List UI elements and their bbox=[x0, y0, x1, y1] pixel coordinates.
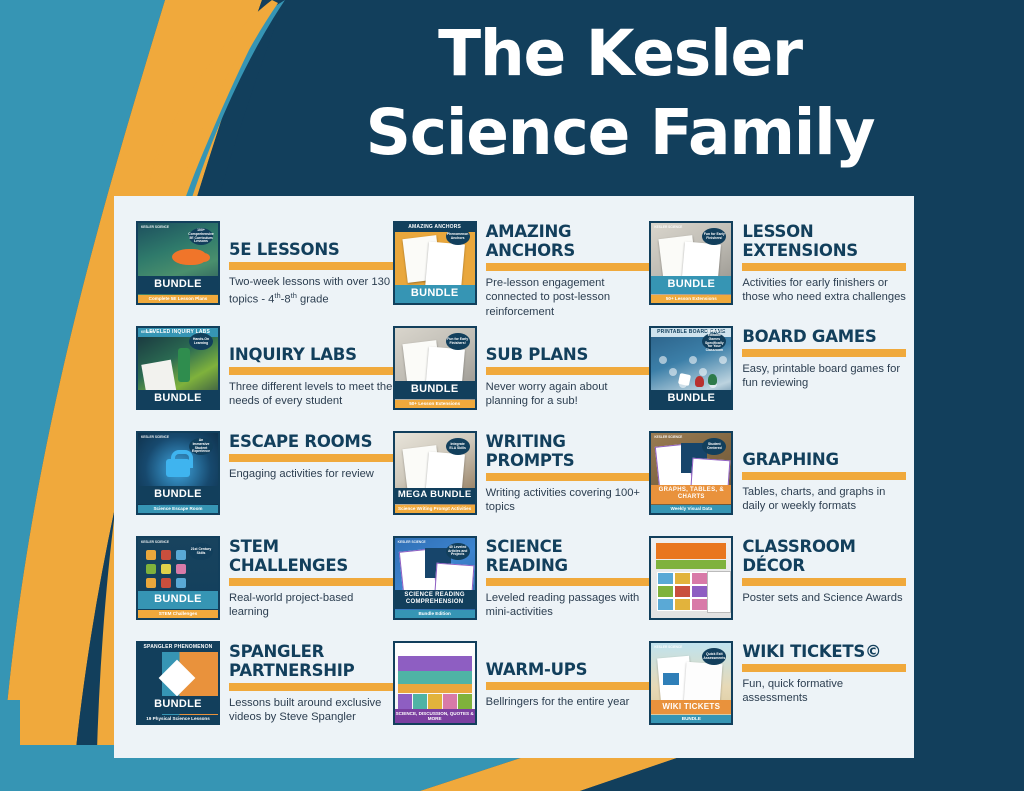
thumbnail-art-shape bbox=[161, 550, 171, 560]
bottom-teal-strip bbox=[0, 700, 20, 791]
thumbnail-bundle-label: BUNDLE bbox=[138, 591, 218, 609]
title-underline-bar bbox=[486, 682, 650, 690]
product-title: BOARD GAMES bbox=[742, 327, 906, 346]
thumbnail-bundle-label: BUNDLE bbox=[651, 276, 731, 294]
product-card[interactable]: PRINTABLE BOARD GAMEIncludes 10 Editable… bbox=[649, 319, 906, 424]
thumbnail-sub-label: SCIENCE, DISCUSSION, QUOTES & MORE bbox=[395, 709, 475, 723]
product-card[interactable]: Fun for Early Finishers!BUNDLE50+ Lesson… bbox=[393, 319, 650, 424]
product-description: Engaging activities for review bbox=[229, 467, 393, 481]
product-card-text: SCIENCE READINGLeveled reading passages … bbox=[486, 536, 650, 620]
thumbnail-sub-label: 19 Physical Science Lessons bbox=[138, 715, 218, 723]
product-title: WIKI TICKETS© bbox=[742, 642, 906, 661]
product-card[interactable]: KESLERLeveled Inquiry LabsHands-On Learn… bbox=[136, 319, 393, 424]
title-underline-bar bbox=[742, 578, 906, 586]
thumbnail-bundle-label: BUNDLE bbox=[138, 276, 218, 294]
product-card-text: WIKI TICKETS©Fun, quick formative assess… bbox=[742, 641, 906, 706]
thumbnail-badge: Phenomenon Anchors bbox=[446, 228, 470, 245]
thumbnail-art-shape bbox=[176, 578, 186, 588]
product-title: SUB PLANS bbox=[486, 345, 650, 364]
title-underline-bar bbox=[742, 263, 906, 271]
product-description: Fun, quick formative assessments bbox=[742, 677, 906, 706]
thumbnail-art-shape bbox=[707, 571, 731, 613]
product-title: GRAPHING bbox=[742, 450, 906, 469]
product-card[interactable]: CLASSROOM DÉCORPoster sets and Science A… bbox=[649, 529, 906, 634]
poster-canvas: The Kesler Science Family KESLER SCIENCE… bbox=[0, 0, 1024, 791]
thumbnail-art-shape bbox=[398, 671, 472, 684]
thumbnail-art-shape bbox=[176, 564, 186, 574]
title-underline-bar bbox=[486, 367, 650, 375]
thumbnail-art-shape bbox=[674, 572, 691, 585]
product-title: 5E LESSONS bbox=[229, 240, 393, 259]
kesler-logo-icon: KESLER SCIENCE bbox=[141, 436, 169, 439]
title-line-1: The Kesler bbox=[300, 14, 940, 93]
thumbnail-art-shape bbox=[695, 376, 704, 387]
product-title: AMAZING ANCHORS bbox=[486, 222, 650, 260]
product-title: WARM-UPS bbox=[486, 660, 650, 679]
product-thumbnail[interactable]: PRINTABLE BOARD GAMEIncludes 10 Editable… bbox=[649, 326, 733, 410]
title-underline-bar bbox=[229, 578, 393, 586]
product-card-text: ESCAPE ROOMSEngaging activities for revi… bbox=[229, 431, 393, 481]
thumbnail-art-shape bbox=[663, 673, 679, 685]
thumbnail-bundle-label: GRAPHS, TABLES, & CHARTS bbox=[651, 485, 731, 504]
thumbnail-art-shape bbox=[719, 356, 727, 364]
product-card[interactable]: KESLER SCIENCE100+ Comprehensive 5E Curr… bbox=[136, 214, 393, 319]
thumbnail-artwork bbox=[651, 538, 731, 618]
product-card-text: INQUIRY LABSThree different levels to me… bbox=[229, 326, 393, 409]
product-thumbnail[interactable]: KESLER SCIENCE40 Leveled Articles and Pr… bbox=[393, 536, 477, 620]
product-thumbnail[interactable]: SPANGLER PHENOMENONBUNDLE19 Physical Sci… bbox=[136, 641, 220, 725]
title-underline-bar bbox=[742, 664, 906, 672]
product-card[interactable]: Integrate ELA SkillsMEGA BUNDLEScience W… bbox=[393, 424, 650, 529]
product-card-text: AMAZING ANCHORSPre-lesson engagement con… bbox=[486, 221, 650, 319]
thumbnail-sub-label: 50+ Lesson Extensions bbox=[395, 400, 475, 408]
product-card-text: WRITING PROMPTSWriting activities coveri… bbox=[486, 431, 650, 515]
product-description: Leveled reading passages with mini-activ… bbox=[486, 591, 650, 620]
product-card[interactable]: KESLER SCIENCEAn Immersive Student Exper… bbox=[136, 424, 393, 529]
content-panel: KESLER SCIENCE100+ Comprehensive 5E Curr… bbox=[114, 196, 914, 758]
thumbnail-art-shape bbox=[691, 572, 708, 585]
product-title: LESSON EXTENSIONS bbox=[742, 222, 906, 260]
product-card[interactable]: KESLER SCIENCE40 Leveled Articles and Pr… bbox=[393, 529, 650, 634]
thumbnail-badge: Hands-On Learning bbox=[189, 333, 213, 350]
thumbnail-badge: Integrate ELA Skills bbox=[446, 438, 470, 455]
product-card-text: SUB PLANSNever worry again about plannin… bbox=[486, 326, 650, 409]
product-description: Two-week lessons with over 130 topics - … bbox=[229, 275, 393, 308]
kesler-logo-icon: KESLER SCIENCE bbox=[654, 646, 682, 649]
thumbnail-art-shape bbox=[161, 564, 171, 574]
thumbnail-art-shape bbox=[398, 684, 472, 693]
product-card-text: STEM CHALLENGESReal-world project-based … bbox=[229, 536, 393, 620]
product-card[interactable]: SCIENCE, DISCUSSION, QUOTES & MOREWARM-U… bbox=[393, 634, 650, 739]
product-description: Poster sets and Science Awards bbox=[742, 591, 906, 605]
product-card-text: CLASSROOM DÉCORPoster sets and Science A… bbox=[742, 536, 906, 605]
product-title: WRITING PROMPTS bbox=[486, 432, 650, 470]
thumbnail-art-shape bbox=[178, 348, 190, 382]
product-description: Easy, printable board games for fun revi… bbox=[742, 362, 906, 391]
thumbnail-bundle-label: BUNDLE bbox=[138, 696, 218, 714]
product-card[interactable]: Amazing AnchorsPhenomenon AnchorsBUNDLEA… bbox=[393, 214, 650, 319]
thumbnail-badge: 40 Leveled Articles and Projects bbox=[446, 543, 470, 560]
thumbnail-sub-label: STEM Challenges bbox=[138, 610, 218, 618]
title-underline-bar bbox=[229, 367, 393, 375]
thumbnail-art-shape bbox=[708, 374, 717, 385]
thumbnail-bundle-label: BUNDLE bbox=[395, 381, 475, 399]
thumbnail-sub-label: BUNDLE bbox=[651, 715, 731, 723]
title-line-2: Science Family bbox=[300, 93, 940, 172]
product-card-text: WARM-UPSBellringers for the entire year bbox=[486, 641, 650, 709]
product-description: Real-world project-based learning bbox=[229, 591, 393, 620]
product-thumbnail[interactable]: KESLER SCIENCEFun for Early Finishers!BU… bbox=[649, 221, 733, 305]
product-title: SPANGLER PARTNERSHIP bbox=[229, 642, 393, 680]
thumbnail-art-shape bbox=[161, 578, 171, 588]
thumbnail-art-shape bbox=[674, 598, 691, 611]
title-underline-bar bbox=[229, 262, 393, 270]
product-title: STEM CHALLENGES bbox=[229, 537, 393, 575]
product-card[interactable]: SPANGLER PHENOMENONBUNDLE19 Physical Sci… bbox=[136, 634, 393, 739]
thumbnail-sub-label: Science Escape Room bbox=[138, 505, 218, 513]
product-title: CLASSROOM DÉCOR bbox=[742, 537, 906, 575]
product-card-text: 5E LESSONSTwo-week lessons with over 130… bbox=[229, 221, 393, 308]
thumbnail-art-shape bbox=[657, 572, 674, 585]
product-thumbnail[interactable]: KESLER SCIENCEStudent CenteredGRAPHS, TA… bbox=[649, 431, 733, 515]
title-underline-bar bbox=[229, 454, 393, 462]
product-description: Writing activities covering 100+ topics bbox=[486, 486, 650, 515]
thumbnail-bundle-label: BUNDLE bbox=[138, 390, 218, 408]
thumbnail-art-shape bbox=[691, 585, 708, 598]
thumbnail-art-shape bbox=[659, 356, 667, 364]
thumbnail-badge: 100+ Comprehensive 5E Curriculum Lessons bbox=[189, 228, 213, 245]
kesler-logo-icon: KESLER SCIENCE bbox=[654, 226, 682, 229]
thumbnail-bundle-label: MEGA BUNDLE bbox=[395, 488, 475, 504]
thumbnail-sub-label: Science Writing Prompt Activities bbox=[395, 505, 475, 513]
title-underline-bar bbox=[486, 473, 650, 481]
product-description: Bellringers for the entire year bbox=[486, 695, 650, 709]
thumbnail-art-shape bbox=[146, 550, 156, 560]
product-card-text: SPANGLER PARTNERSHIPLessons built around… bbox=[229, 641, 393, 725]
thumbnail-bundle-label: SCIENCE READING COMPREHENSION bbox=[395, 590, 475, 609]
title-underline-bar bbox=[486, 578, 650, 586]
thumbnail-sub-label: Complete 5E Lesson Plans bbox=[138, 295, 218, 303]
product-thumbnail[interactable]: KESLER SCIENCEAn Immersive Student Exper… bbox=[136, 431, 220, 515]
product-title: SCIENCE READING bbox=[486, 537, 650, 575]
product-card-text: GRAPHINGTables, charts, and graphs in da… bbox=[742, 431, 906, 514]
thumbnail-bundle-label: WIKI TICKETS bbox=[651, 700, 731, 714]
thumbnail-art-shape bbox=[146, 578, 156, 588]
product-description: Never worry again about planning for a s… bbox=[486, 380, 650, 409]
thumbnail-sub-label: Weekly Visual Data bbox=[651, 505, 731, 513]
product-description: Pre-lesson engagement connected to post-… bbox=[486, 276, 650, 319]
product-title: INQUIRY LABS bbox=[229, 345, 393, 364]
product-description: Tables, charts, and graphs in daily or w… bbox=[742, 485, 906, 514]
product-grid: KESLER SCIENCE100+ Comprehensive 5E Curr… bbox=[136, 214, 906, 739]
thumbnail-art-shape bbox=[656, 560, 726, 569]
product-card-text: BOARD GAMESEasy, printable board games f… bbox=[742, 326, 906, 391]
thumbnail-bundle-label: BUNDLE bbox=[138, 486, 218, 504]
product-thumbnail[interactable]: KESLER SCIENCE100+ Comprehensive 5E Curr… bbox=[136, 221, 220, 305]
poster-title: The Kesler Science Family bbox=[300, 14, 940, 172]
product-thumbnail[interactable]: KESLERLeveled Inquiry LabsHands-On Learn… bbox=[136, 326, 220, 410]
product-card[interactable]: KESLER SCIENCEQuick Exit AssessmentsWIKI… bbox=[649, 634, 906, 739]
product-title: ESCAPE ROOMS bbox=[229, 432, 393, 451]
thumbnail-art-shape bbox=[198, 253, 210, 262]
thumbnail-bundle-label: BUNDLE bbox=[651, 390, 731, 408]
thumbnail-badge: An Immersive Student Experience bbox=[189, 438, 213, 455]
product-thumbnail[interactable]: SCIENCE, DISCUSSION, QUOTES & MORE bbox=[393, 641, 477, 725]
thumbnail-art-shape bbox=[146, 564, 156, 574]
thumbnail-badge: 21st Century Skills bbox=[189, 543, 213, 560]
product-description: Lessons built around exclusive videos by… bbox=[229, 696, 393, 725]
product-thumbnail[interactable] bbox=[649, 536, 733, 620]
kesler-logo-icon: KESLER SCIENCE bbox=[398, 541, 426, 544]
thumbnail-badge: Fun for Early Finishers! bbox=[446, 333, 470, 350]
kesler-logo-icon: KESLER SCIENCE bbox=[141, 226, 169, 229]
product-thumbnail[interactable]: KESLER SCIENCE21st Century SkillsBUNDLES… bbox=[136, 536, 220, 620]
product-card[interactable]: KESLER SCIENCEStudent CenteredGRAPHS, TA… bbox=[649, 424, 906, 529]
thumbnail-art-shape bbox=[657, 585, 674, 598]
thumbnail-badge: Includes 10 Editable Games Specifically … bbox=[702, 333, 726, 350]
thumbnail-art-shape bbox=[669, 368, 677, 376]
thumbnail-art-shape bbox=[159, 660, 196, 697]
thumbnail-art-shape bbox=[176, 550, 186, 560]
kesler-logo-icon: KESLER SCIENCE bbox=[654, 436, 682, 439]
product-thumbnail[interactable]: Fun for Early Finishers!BUNDLE50+ Lesson… bbox=[393, 326, 477, 410]
title-underline-bar bbox=[742, 472, 906, 480]
kesler-logo-icon: KESLER bbox=[141, 331, 154, 334]
thumbnail-art-shape bbox=[678, 373, 691, 386]
thumbnail-art-shape bbox=[674, 585, 691, 598]
product-card[interactable]: KESLER SCIENCE21st Century SkillsBUNDLES… bbox=[136, 529, 393, 634]
thumbnail-art-shape bbox=[656, 543, 726, 559]
kesler-logo-icon: KESLER SCIENCE bbox=[141, 541, 169, 544]
thumbnail-art-shape bbox=[691, 598, 708, 611]
title-underline-bar bbox=[742, 349, 906, 357]
product-description: Activities for early finishers or those … bbox=[742, 276, 906, 305]
thumbnail-art-shape bbox=[425, 242, 465, 291]
product-card[interactable]: KESLER SCIENCEFun for Early Finishers!BU… bbox=[649, 214, 906, 319]
product-card-text: LESSON EXTENSIONSActivities for early fi… bbox=[742, 221, 906, 305]
product-thumbnail[interactable]: Amazing AnchorsPhenomenon AnchorsBUNDLE bbox=[393, 221, 477, 305]
product-description: Three different levels to meet the needs… bbox=[229, 380, 393, 409]
thumbnail-sub-label: 50+ Lesson Extensions bbox=[651, 295, 731, 303]
thumbnail-art-shape bbox=[657, 598, 674, 611]
product-thumbnail[interactable]: Integrate ELA SkillsMEGA BUNDLEScience W… bbox=[393, 431, 477, 515]
thumbnail-art-shape bbox=[398, 656, 472, 671]
thumbnail-top-label: SPANGLER PHENOMENON bbox=[138, 643, 218, 652]
title-underline-bar bbox=[229, 683, 393, 691]
title-underline-bar bbox=[486, 263, 650, 271]
thumbnail-bundle-label: BUNDLE bbox=[395, 285, 475, 303]
thumbnail-art-shape bbox=[699, 368, 707, 376]
thumbnail-art-shape bbox=[689, 356, 697, 364]
thumbnail-sub-label: Bundle Edition bbox=[395, 610, 475, 618]
product-thumbnail[interactable]: KESLER SCIENCEQuick Exit AssessmentsWIKI… bbox=[649, 641, 733, 725]
